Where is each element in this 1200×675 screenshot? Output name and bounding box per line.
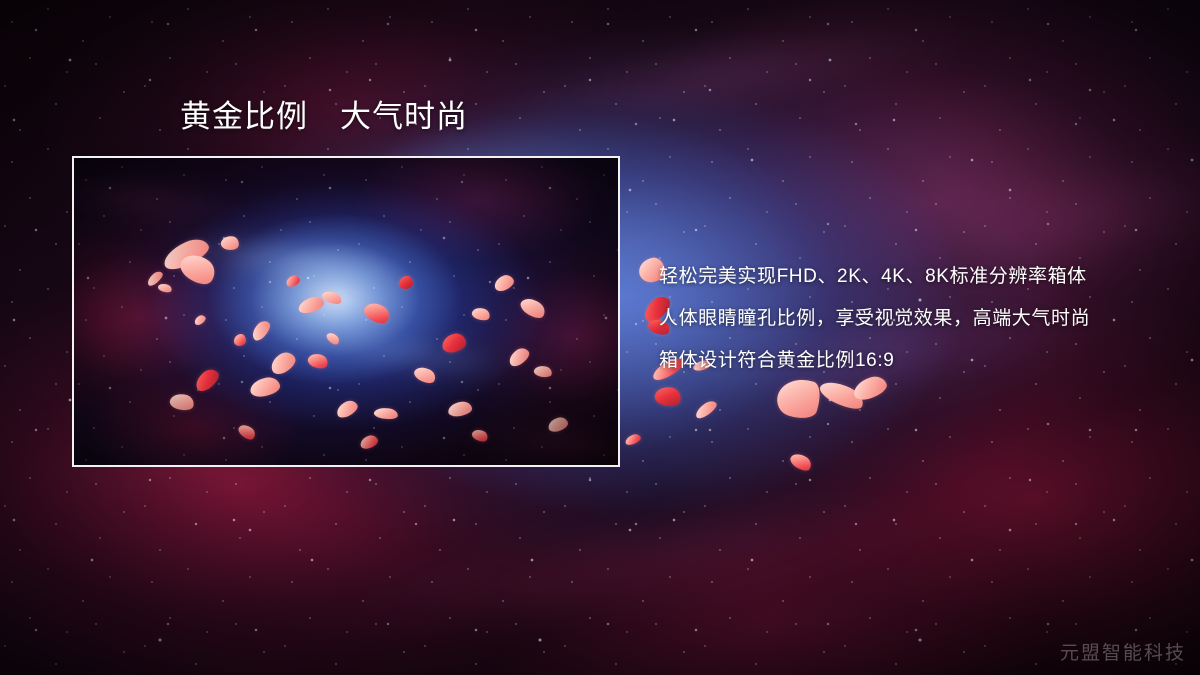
- framed-image-panel: [72, 156, 620, 467]
- frame-vignette: [74, 158, 618, 465]
- body-line-3: 箱体设计符合黄金比例16:9: [659, 340, 1159, 382]
- page-title: 黄金比例 大气时尚: [180, 99, 468, 136]
- body-line-1: 轻松完美实现FHD、2K、4K、8K标准分辨率箱体: [659, 256, 1159, 298]
- watermark-logo-text: 元盟智能科技: [1060, 638, 1186, 665]
- presentation-slide: 黄金比例 大气时尚 轻松完美实现FHD、2K、4K、8K标准分辨率箱体 人体眼睛…: [0, 0, 1200, 675]
- framed-image-content: [74, 158, 618, 465]
- body-line-2: 人体眼睛瞳孔比例，享受视觉效果，高端大气时尚: [659, 298, 1159, 340]
- body-text-block: 轻松完美实现FHD、2K、4K、8K标准分辨率箱体 人体眼睛瞳孔比例，享受视觉效…: [659, 256, 1159, 382]
